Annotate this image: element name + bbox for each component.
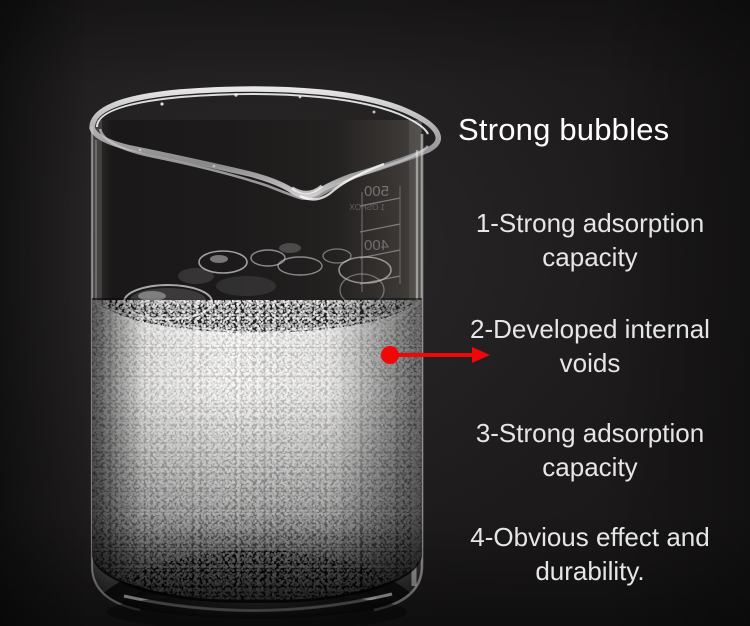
callout-arrow — [378, 338, 498, 372]
foam-shading — [92, 298, 422, 603]
arrow-icon — [378, 338, 498, 372]
arrow-head — [472, 347, 490, 363]
svg-text:1 OSHOX: 1 OSHOX — [349, 203, 385, 212]
image-canvas: 500 400 1 OSHOX — [0, 0, 750, 626]
page-title: Strong bubbles — [458, 112, 669, 148]
list-item: 4-Obvious effect and durability. — [440, 520, 740, 588]
list-item: 3-Strong adsorption capacity — [440, 416, 740, 484]
svg-text:500: 500 — [364, 183, 389, 200]
list-item: 1-Strong adsorption capacity — [440, 206, 740, 274]
svg-text:400: 400 — [364, 237, 389, 254]
feature-list: 1-Strong adsorption capacity 2-Developed… — [440, 206, 740, 620]
